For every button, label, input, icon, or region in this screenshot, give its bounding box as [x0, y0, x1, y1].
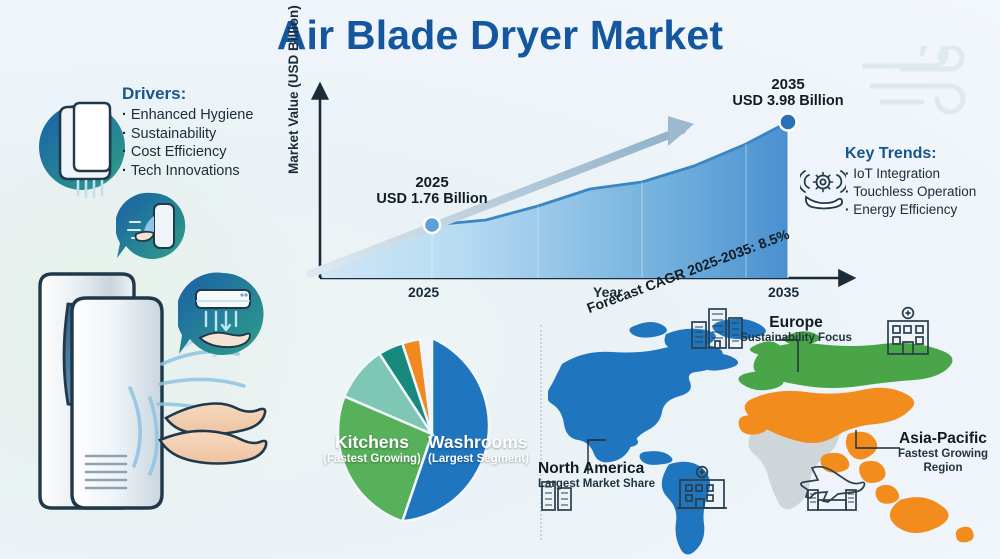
key-trends-item: IoT Integration	[845, 165, 976, 183]
airport-icon	[798, 462, 868, 512]
chart-x-tick-end: 2035	[768, 284, 799, 300]
regional-map: North America Largest Market Share Europ…	[548, 312, 998, 559]
page-title: Air Blade Dryer Market	[0, 12, 1000, 59]
drivers-heading: Drivers:	[122, 84, 253, 104]
infographic-canvas: Air Blade Dryer Market	[0, 0, 1000, 559]
chart-annotation-2035: 2035 USD 3.98 Billion	[728, 76, 848, 110]
pie-label-washrooms: Washrooms (Largest Segment)	[428, 432, 529, 465]
chart-x-axis-label: Year	[593, 284, 623, 300]
chart-x-tick-start: 2025	[408, 284, 439, 300]
key-trends-block: Key Trends: IoT Integration Touchless Op…	[845, 145, 976, 219]
segment-pie-chart: Washrooms (Largest Segment) Kitchens (Fa…	[332, 332, 532, 542]
map-label-europe: Europe Sustainability Focus	[726, 314, 866, 346]
drivers-item: Tech Innovations	[122, 162, 253, 181]
bank-building-icon	[880, 306, 936, 358]
map-label-asia-pacific: Asia-Pacific Fastest Growing Region	[888, 430, 998, 475]
drivers-item: Cost Efficiency	[122, 143, 253, 162]
key-trends-item: Energy Efficiency	[845, 201, 976, 219]
key-trends-item: Touchless Operation	[845, 183, 976, 201]
chart-y-axis-label: Market Value (USD Billion)	[286, 5, 301, 174]
drivers-item: Sustainability	[122, 125, 253, 144]
hands-under-dryer-badge-icon	[116, 190, 188, 262]
key-trends-heading: Key Trends:	[845, 145, 976, 163]
chart-annotation-2025: 2025 USD 1.76 Billion	[372, 174, 492, 208]
pie-label-kitchens: Kitchens (Fastest Growing)	[318, 432, 426, 465]
wall-hand-dryer-badge-icon	[30, 95, 135, 200]
market-growth-chart: Market Value (USD Billion)	[290, 78, 860, 303]
drivers-block: Drivers: Enhanced Hygiene Sustainability…	[122, 84, 253, 180]
key-trends-list: IoT Integration Touchless Operation Ener…	[845, 165, 976, 219]
chart-point-2035	[780, 114, 797, 131]
drivers-list: Enhanced Hygiene Sustainability Cost Eff…	[122, 106, 253, 180]
drivers-item: Enhanced Hygiene	[122, 106, 253, 125]
map-label-north-america: North America Largest Market Share	[538, 460, 655, 492]
chart-point-2025	[424, 217, 440, 233]
hospital-icon	[674, 464, 730, 512]
air-blower-hands-badge-icon	[178, 270, 268, 360]
